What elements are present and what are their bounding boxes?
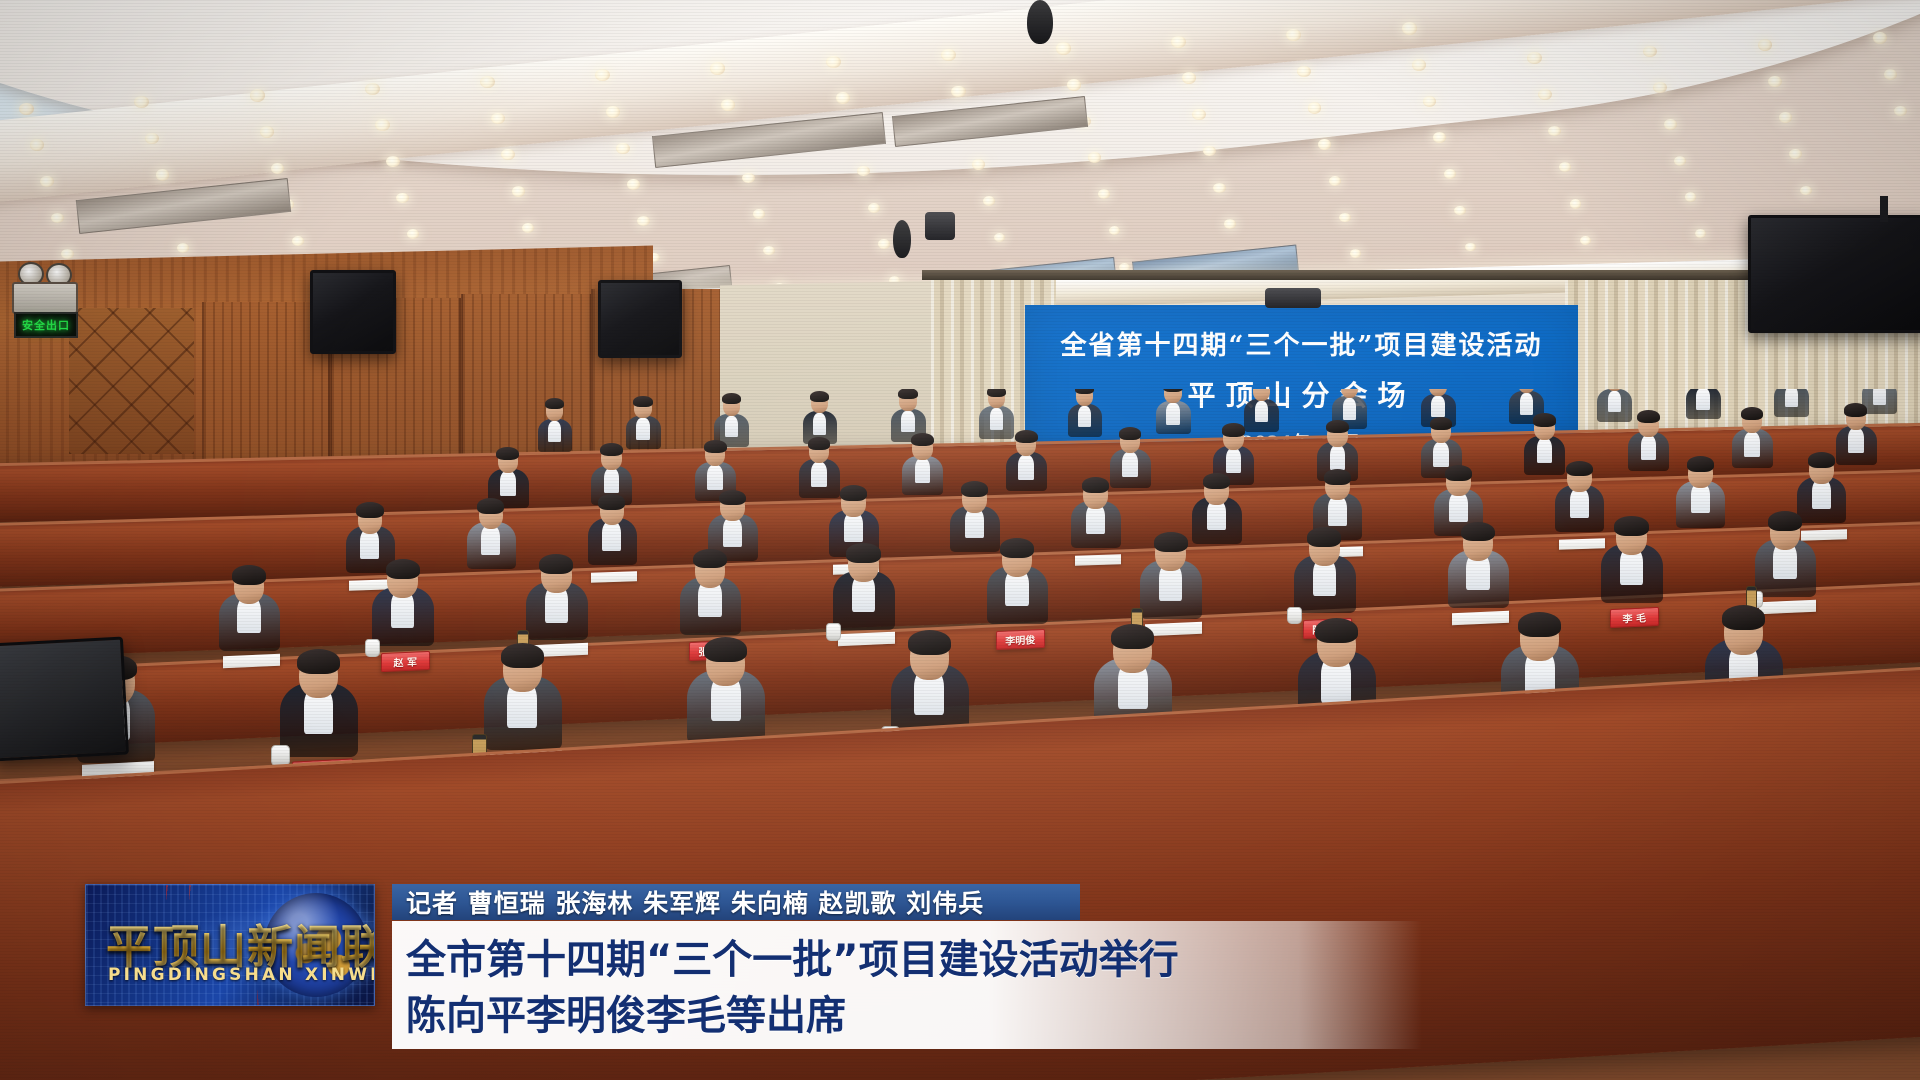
desk-nameplate: 李明俊: [996, 629, 1045, 650]
channel-logo-pinyin: PINGDINGSHAN XINWENLIANBO: [108, 965, 375, 985]
reporter-credit-text: 记者 曹恒瑞 张海林 朱军辉 朱向楠 赵凯歌 刘伟兵: [406, 884, 984, 920]
broadcast-frame: 全省第十四期“三个一批”项目建设活动 平顶山分会场 2024年 10月 安全出口…: [0, 0, 1920, 1080]
ceiling-camera: [1265, 288, 1321, 308]
desk-nameplate: 李 毛: [1610, 607, 1659, 628]
exit-sign-label: 安全出口: [22, 317, 70, 333]
monitor-mount-arm: [1880, 196, 1888, 222]
reporter-credit-bar: 记者 曹恒瑞 张海林 朱军辉 朱向楠 赵凯歌 刘伟兵: [392, 884, 1080, 920]
exit-sign: 安全出口: [14, 312, 78, 338]
ceiling-camera: [925, 212, 955, 240]
wall-monitor-center: [598, 280, 682, 358]
wall-monitor-left: [310, 270, 396, 354]
headline-box: 全市第十四期“三个一批”项目建设活动举行 陈向平李明俊李毛等出席: [392, 921, 1422, 1049]
channel-logo: 平顶山新闻联播 PINGDINGSHAN XINWENLIANBO: [85, 884, 375, 1006]
wall-monitor-right: [1748, 215, 1920, 333]
pendant-speaker: [1027, 0, 1053, 44]
venue-banner-line1: 全省第十四期“三个一批”项目建设活动: [1025, 325, 1578, 362]
pendant-speaker: [893, 220, 911, 258]
headline-line-2: 陈向平李明俊李毛等出席: [406, 983, 846, 1041]
headline-line-1: 全市第十四期“三个一批”项目建设活动举行: [406, 927, 1179, 985]
emergency-light-box: [12, 282, 78, 314]
foreground-monitor: [0, 637, 129, 762]
desk-nameplate: 赵 军: [381, 650, 430, 671]
